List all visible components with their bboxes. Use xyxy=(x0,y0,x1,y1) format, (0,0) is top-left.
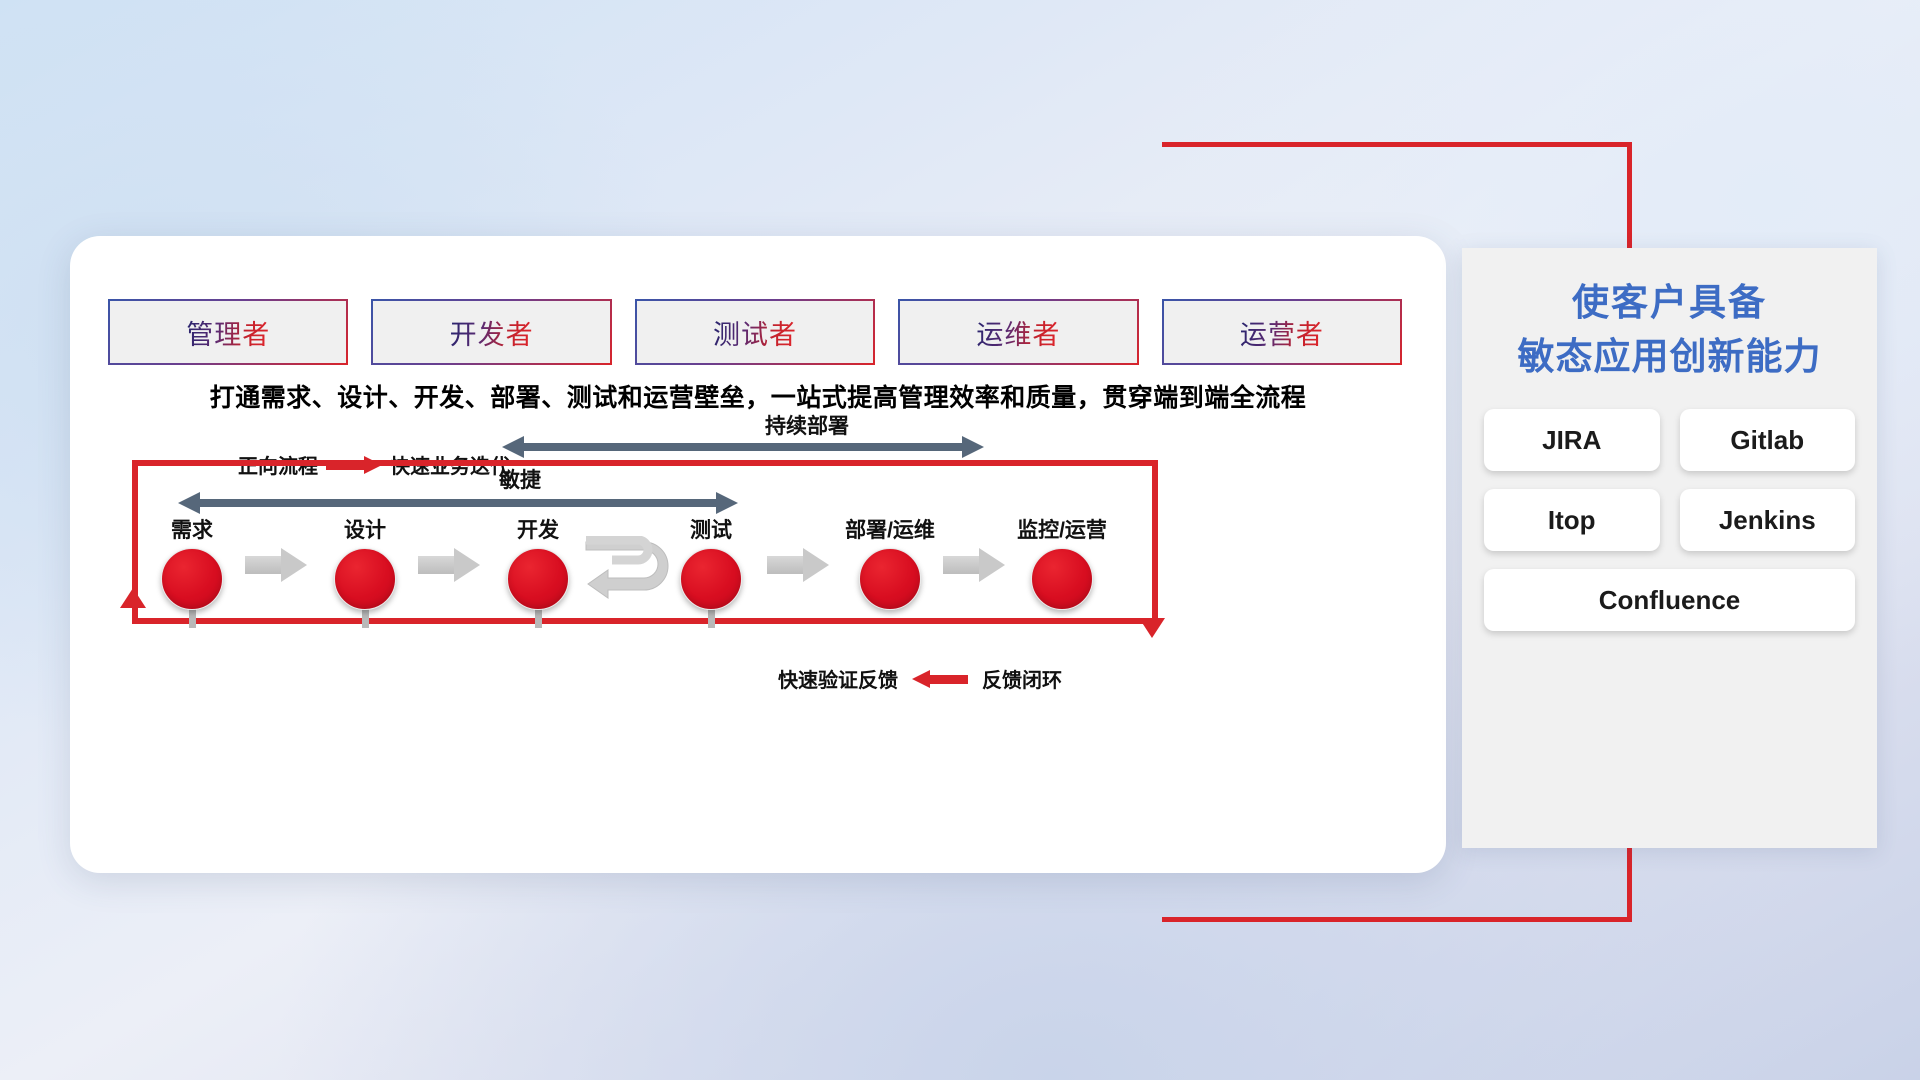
outcome-panel-title: 使客户具备 敏态应用创新能力 xyxy=(1484,276,1855,383)
arrow-head-right-icon xyxy=(281,548,307,582)
pipeline-arrow-2 xyxy=(418,548,480,582)
arrow-head-left-icon xyxy=(502,436,524,458)
role-box-manager[interactable]: 管理者 xyxy=(110,301,346,363)
pipeline-node-label: 监控/运营 xyxy=(1002,514,1122,544)
tool-chip-jenkins[interactable]: Jenkins xyxy=(1680,489,1856,551)
arrow-head-right-icon xyxy=(962,436,984,458)
pipeline-node-label: 部署/运维 xyxy=(830,514,950,544)
pipeline-node-development[interactable]: 开发 xyxy=(478,514,598,610)
role-box-business-operator[interactable]: 运营者 xyxy=(1164,301,1400,363)
pipeline-node-dot xyxy=(334,548,396,610)
pipeline-node-requirements[interactable]: 需求 xyxy=(132,514,252,610)
role-label: 测试者 xyxy=(713,313,797,352)
arrow-head-right-icon xyxy=(979,548,1005,582)
arrow-head-right-icon xyxy=(803,548,829,582)
legend-feedback-target-label: 快速验证反馈 xyxy=(778,664,898,693)
arrow-shaft xyxy=(418,556,456,574)
pipeline-node-monitor-operate[interactable]: 监控/运营 xyxy=(1002,514,1122,610)
pipeline-node-label: 需求 xyxy=(132,514,252,544)
outcome-title-line-1: 使客户具备 xyxy=(1484,276,1855,330)
pipeline-node-dot xyxy=(507,548,569,610)
pipeline-row: 需求 设计 开发 xyxy=(70,514,1446,644)
iteration-loop-icon xyxy=(582,536,678,600)
arrow-shaft xyxy=(524,443,962,451)
pipeline-node-dot xyxy=(161,548,223,610)
span-arrow-continuous-deployment xyxy=(502,436,984,458)
role-label: 运营者 xyxy=(1240,313,1324,352)
role-box-operations-engineer[interactable]: 运维者 xyxy=(900,301,1136,363)
pipeline-node-design[interactable]: 设计 xyxy=(305,514,425,610)
tool-chip-gitlab[interactable]: Gitlab xyxy=(1680,409,1856,471)
role-label: 开发者 xyxy=(450,313,534,352)
legend-feedback-loop: 快速验证反馈 反馈闭环 xyxy=(778,664,1062,693)
tool-chip-jira[interactable]: JIRA xyxy=(1484,409,1660,471)
outcome-panel: 使客户具备 敏态应用创新能力 JIRA Gitlab Itop Jenkins … xyxy=(1462,248,1877,848)
tool-chip-itop[interactable]: Itop xyxy=(1484,489,1660,551)
legend-feedback-source-label: 反馈闭环 xyxy=(982,664,1062,693)
tool-chip-confluence[interactable]: Confluence xyxy=(1484,569,1855,631)
pipeline-arrow-4 xyxy=(943,548,1005,582)
pipeline-node-label: 开发 xyxy=(478,514,598,544)
arrow-shaft xyxy=(245,556,283,574)
pipeline-node-dot xyxy=(680,548,742,610)
slide-canvas: 管理者 开发者 测试者 运维者 运营者 打通需求、设计、开发、部署、测试和运营壁… xyxy=(0,0,1920,1080)
headline-text: 打通需求、设计、开发、部署、测试和运营壁垒，一站式提高管理效率和质量，贯穿端到端… xyxy=(70,378,1446,414)
role-label: 运维者 xyxy=(976,313,1060,352)
pipeline-node-dot xyxy=(859,548,921,610)
arrow-shaft xyxy=(943,556,981,574)
red-arrow-left-icon xyxy=(912,670,968,688)
pipeline-node-deploy-ops[interactable]: 部署/运维 xyxy=(830,514,950,610)
pipeline-arrow-3 xyxy=(767,548,829,582)
tool-chip-list: JIRA Gitlab Itop Jenkins Confluence xyxy=(1484,409,1855,631)
role-box-list: 管理者 开发者 测试者 运维者 运营者 xyxy=(110,301,1400,363)
devops-flow-card: 管理者 开发者 测试者 运维者 运营者 打通需求、设计、开发、部署、测试和运营壁… xyxy=(70,236,1446,873)
pipeline-node-label: 设计 xyxy=(305,514,425,544)
role-label: 管理者 xyxy=(186,313,270,352)
role-box-developer[interactable]: 开发者 xyxy=(373,301,609,363)
arrow-head-right-icon xyxy=(454,548,480,582)
pipeline-arrow-1 xyxy=(245,548,307,582)
arrow-shaft xyxy=(767,556,805,574)
pipeline-node-dot xyxy=(1031,548,1093,610)
outer-red-circuit-stub xyxy=(1162,142,1168,147)
role-box-tester[interactable]: 测试者 xyxy=(637,301,873,363)
outcome-title-line-2: 敏态应用创新能力 xyxy=(1484,330,1855,384)
